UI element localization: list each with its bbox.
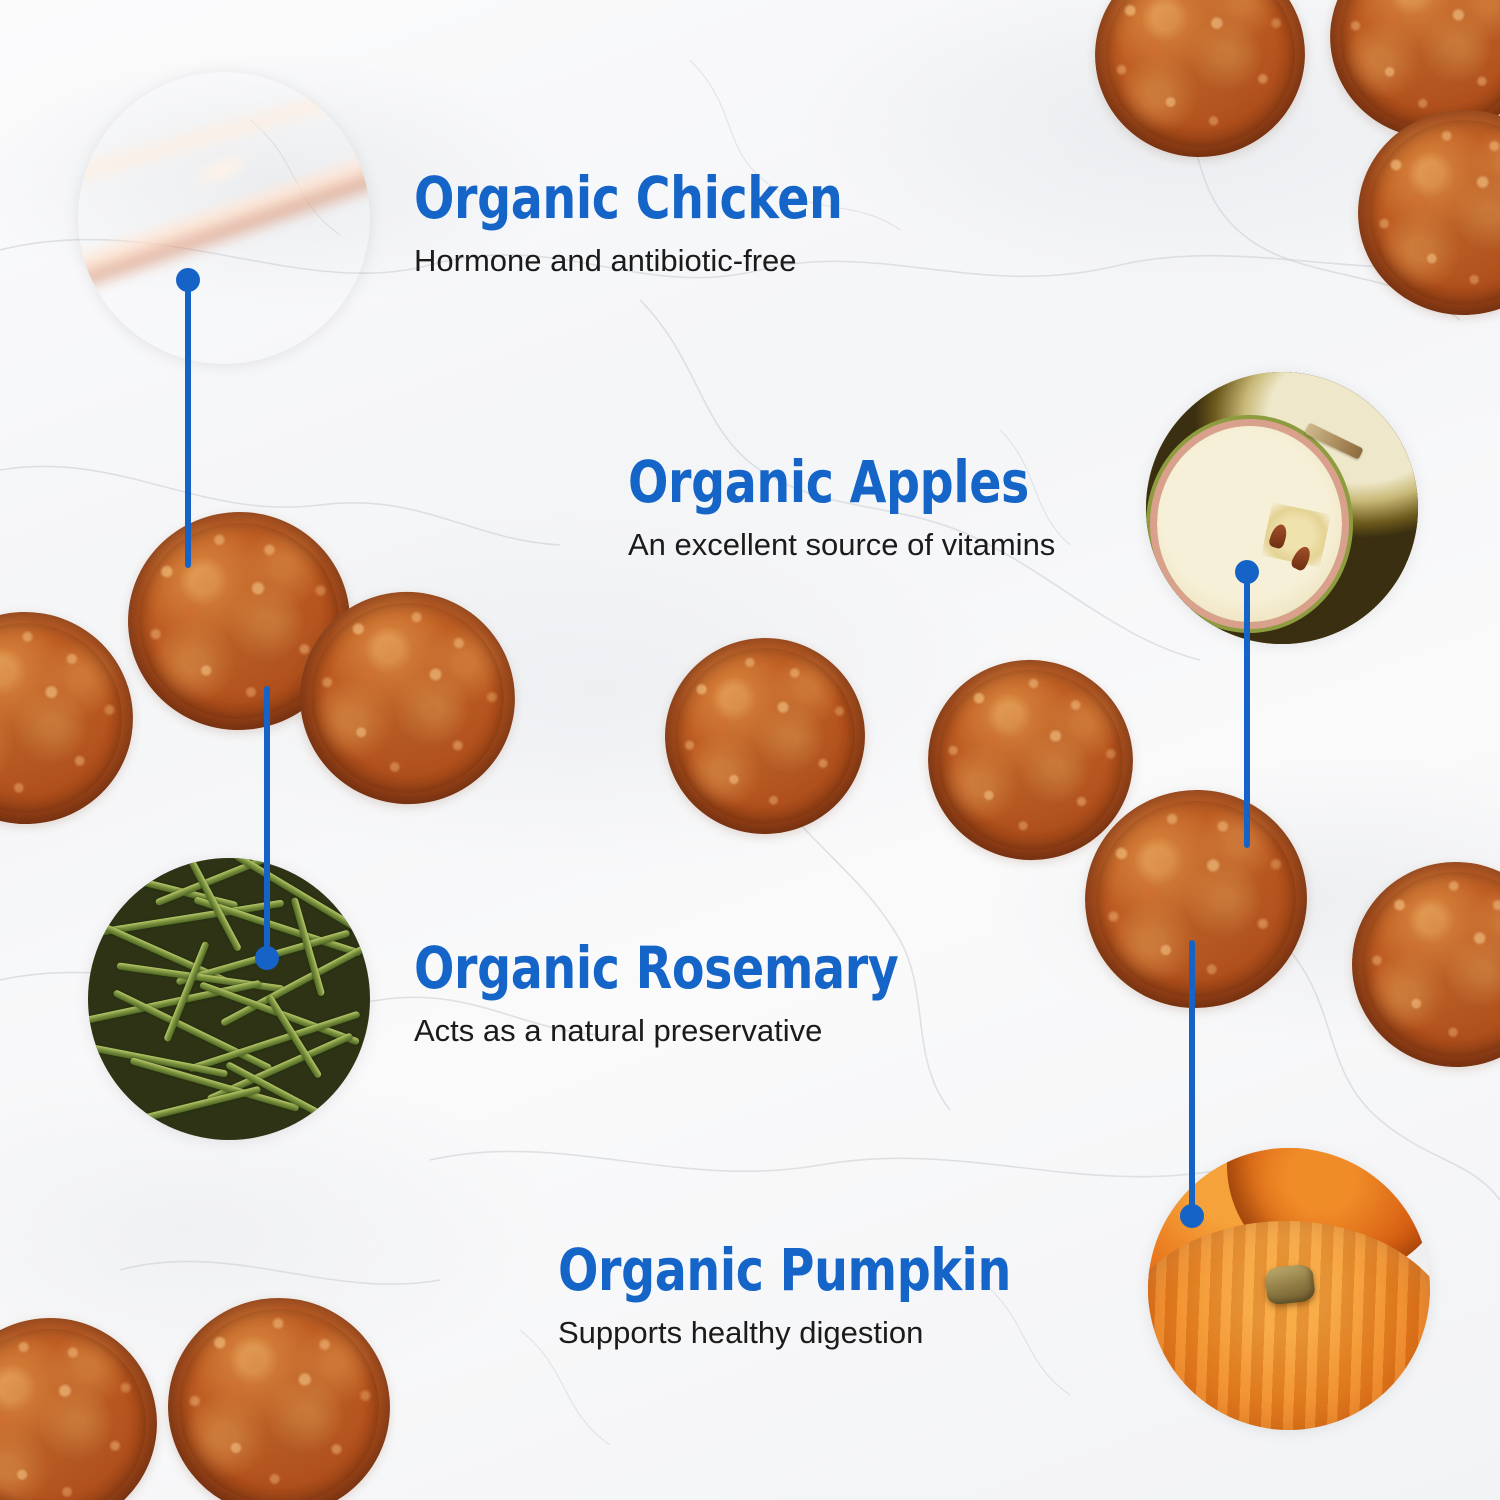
connector-line (1189, 940, 1195, 1216)
callout-apples: Organic Apples An excellent source of vi… (628, 452, 1117, 564)
chicken-photo (78, 72, 370, 364)
apple-connector (1235, 560, 1259, 848)
connector-dot (1180, 1204, 1204, 1228)
callout-subtitle: Hormone and antibiotic-free (414, 242, 937, 279)
connector-line (185, 280, 191, 568)
infographic-canvas: Organic Chicken Hormone and antibiotic-f… (0, 0, 1500, 1500)
callout-subtitle: Acts as a natural preservative (414, 1012, 1005, 1049)
callout-title: Organic Apples (628, 452, 1029, 512)
callout-title: Organic Rosemary (414, 938, 898, 998)
rosemary-connector (255, 686, 279, 970)
connector-dot (255, 946, 279, 970)
callout-chicken: Organic Chicken Hormone and antibiotic-f… (414, 168, 937, 280)
connector-line (1244, 572, 1250, 848)
rosemary-photo (88, 858, 370, 1140)
callout-pumpkin: Organic Pumpkin Supports healthy digesti… (558, 1240, 1110, 1352)
callout-rosemary: Organic Rosemary Acts as a natural prese… (414, 938, 1005, 1050)
apple-photo (1146, 372, 1418, 644)
callout-title: Organic Chicken (414, 168, 843, 228)
pumpkin-connector (1180, 940, 1204, 1228)
callout-subtitle: Supports healthy digestion (558, 1314, 1110, 1351)
connector-line (264, 686, 270, 958)
chicken-connector (176, 268, 200, 568)
callout-subtitle: An excellent source of vitamins (628, 526, 1117, 563)
callout-title: Organic Pumpkin (558, 1240, 1011, 1300)
